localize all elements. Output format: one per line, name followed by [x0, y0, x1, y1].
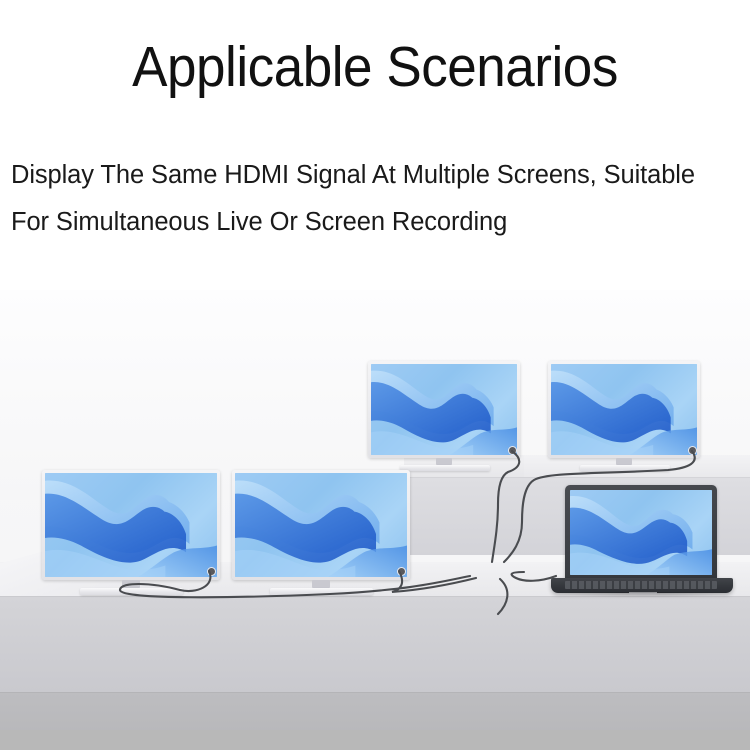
monitor-4-foot [580, 465, 670, 471]
monitor-2-bezel [232, 470, 410, 580]
subtitle-line-2: For Simultaneous Live Or Screen Recordin… [11, 199, 746, 246]
wallpaper-windows11 [45, 473, 217, 577]
monitor-3-hdmi-jack [509, 447, 516, 454]
monitor-3-foot [400, 465, 490, 471]
scenario-photo [0, 290, 750, 750]
monitor-3-screen [371, 364, 517, 455]
monitor-4-neck [616, 458, 632, 465]
monitor-4 [548, 361, 700, 458]
page-subtitle: Display The Same HDMI Signal At Multiple… [11, 152, 746, 246]
monitor-1-neck [122, 580, 140, 588]
desk-seam-2 [0, 692, 750, 693]
product-scenario-page: Applicable Scenarios Display The Same HD… [0, 0, 750, 750]
laptop-screen [570, 490, 712, 575]
page-title: Applicable Scenarios [26, 36, 724, 98]
desk-lower-tier-face [0, 596, 750, 692]
monitor-2-screen [235, 473, 407, 577]
wallpaper-windows11 [551, 364, 697, 455]
monitor-1-bezel [42, 470, 220, 580]
wallpaper-windows11 [235, 473, 407, 577]
monitor-2-neck [312, 580, 330, 588]
monitor-4-bezel [548, 361, 700, 458]
wallpaper-windows11 [371, 364, 517, 455]
monitor-1-foot [80, 588, 183, 595]
monitor-1-screen [45, 473, 217, 577]
wallpaper-windows11 [570, 490, 712, 575]
text-block: Applicable Scenarios Display The Same HD… [0, 0, 750, 290]
monitor-3-neck [436, 458, 452, 465]
monitor-2-hdmi-jack [398, 568, 405, 575]
monitor-4-screen [551, 364, 697, 455]
monitor-1 [42, 470, 220, 580]
laptop-shadow [555, 592, 731, 598]
laptop-lid [565, 485, 717, 581]
subtitle-line-1: Display The Same HDMI Signal At Multiple… [11, 152, 746, 199]
monitor-4-hdmi-jack [689, 447, 696, 454]
desk-seam-3 [404, 477, 750, 478]
monitor-3-bezel [368, 361, 520, 458]
laptop-keyboard [565, 581, 717, 589]
monitor-3 [368, 361, 520, 458]
monitor-1-hdmi-jack [208, 568, 215, 575]
floor-band-lower [0, 730, 750, 750]
laptop [551, 485, 733, 600]
monitor-2 [232, 470, 410, 580]
monitor-2-foot [270, 588, 373, 595]
